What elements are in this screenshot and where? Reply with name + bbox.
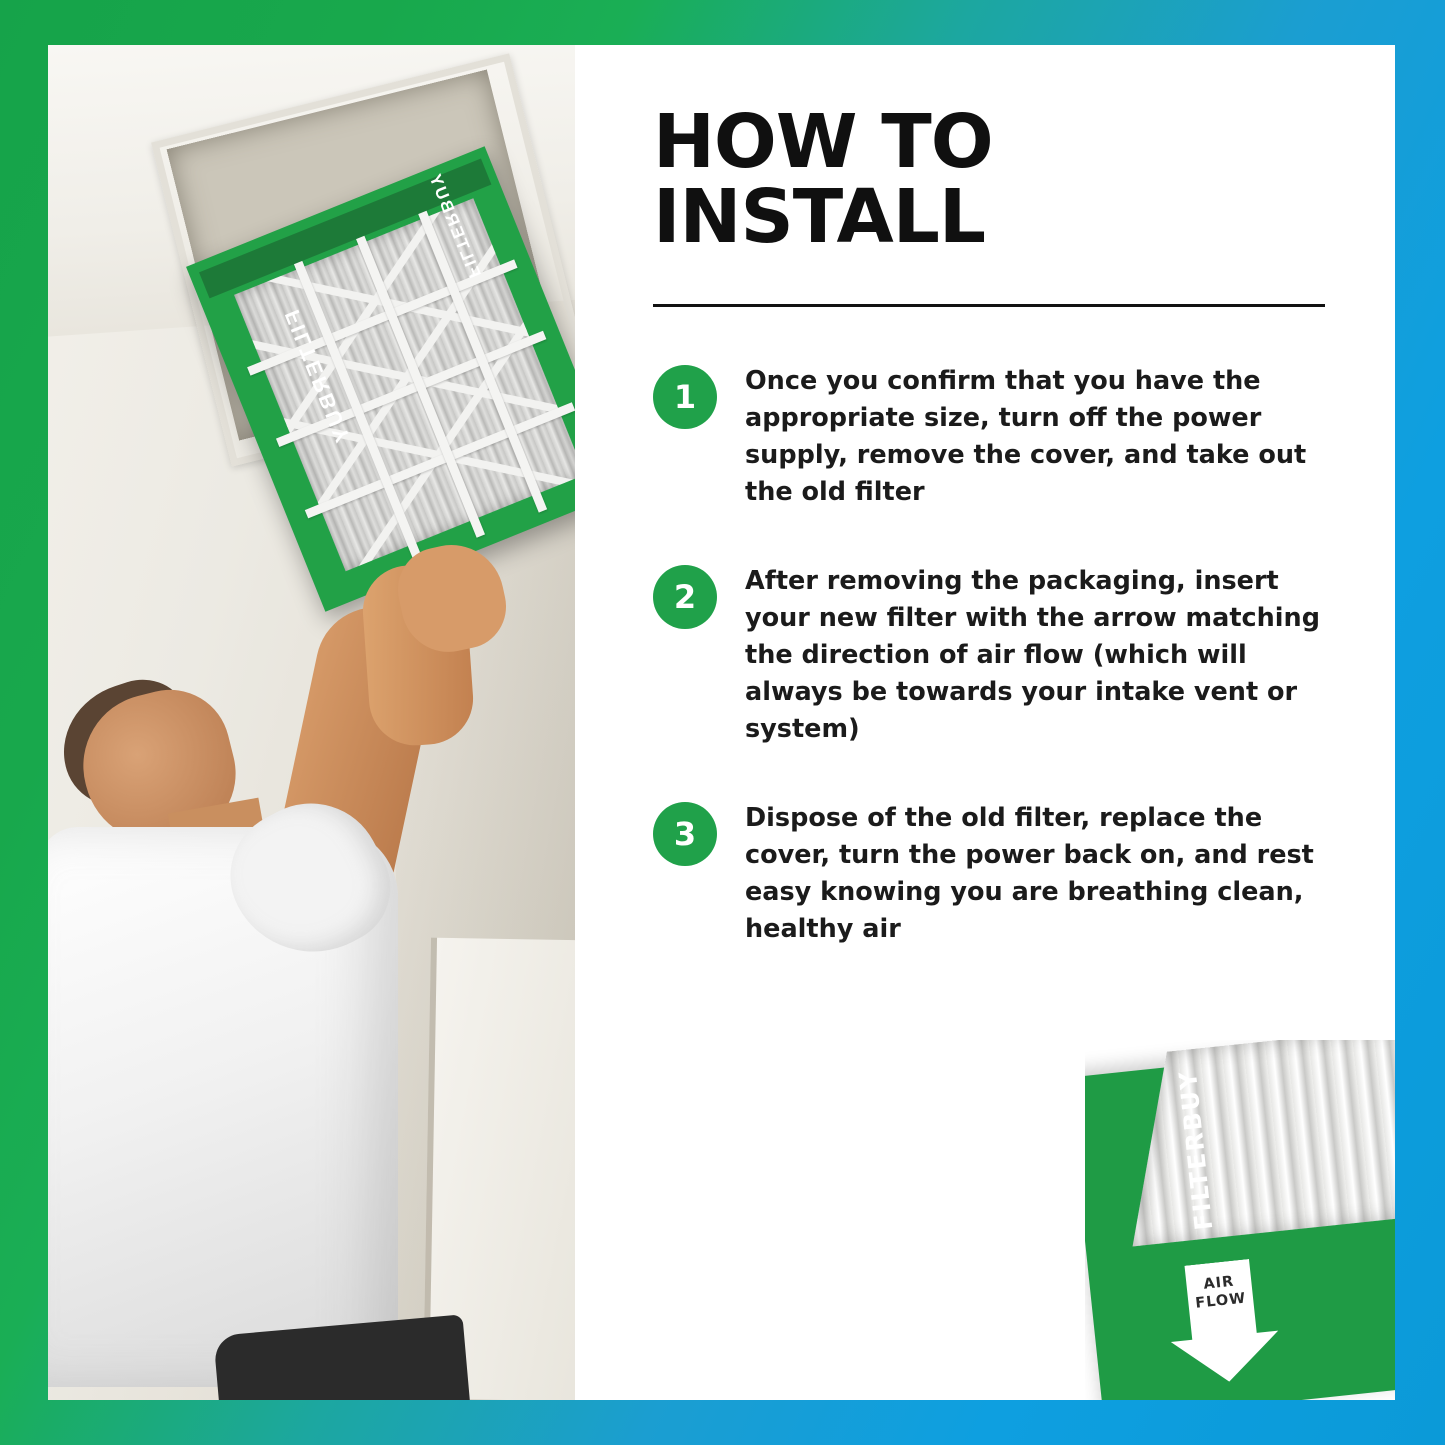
product-filter-photo: FILTERBUY AIR FLOW	[1085, 1040, 1395, 1400]
title-divider	[653, 304, 1325, 307]
step-number-badge: 1	[653, 365, 717, 429]
page-title-line-2: INSTALL	[653, 174, 985, 260]
infographic-inner-card: FILTERBUY FILTERBUY HOW TO INSTALL 1 Onc…	[48, 45, 1395, 1400]
instructions-panel: HOW TO INSTALL 1 Once you confirm that y…	[575, 45, 1395, 1400]
installation-photo: FILTERBUY FILTERBUY	[48, 45, 575, 1400]
air-flow-label-line-1: AIR	[1203, 1274, 1235, 1293]
step-description: Once you confirm that you have the appro…	[745, 363, 1325, 511]
air-flow-arrow: AIR FLOW	[1163, 1257, 1283, 1388]
step-description: After removing the packaging, insert you…	[745, 563, 1325, 748]
air-flow-label: AIR FLOW	[1164, 1269, 1275, 1316]
page-title: HOW TO INSTALL	[653, 105, 1325, 256]
page-title-line-1: HOW TO	[653, 99, 993, 185]
step-item: 1 Once you confirm that you have the app…	[653, 363, 1325, 511]
step-number-badge: 3	[653, 802, 717, 866]
step-item: 3 Dispose of the old filter, replace the…	[653, 800, 1325, 948]
step-item: 2 After removing the packaging, insert y…	[653, 563, 1325, 748]
product-filter-pleats	[1133, 1040, 1395, 1246]
step-number-badge: 2	[653, 565, 717, 629]
infographic-page: FILTERBUY FILTERBUY HOW TO INSTALL 1 Onc…	[0, 0, 1445, 1445]
step-description: Dispose of the old filter, replace the c…	[745, 800, 1325, 948]
